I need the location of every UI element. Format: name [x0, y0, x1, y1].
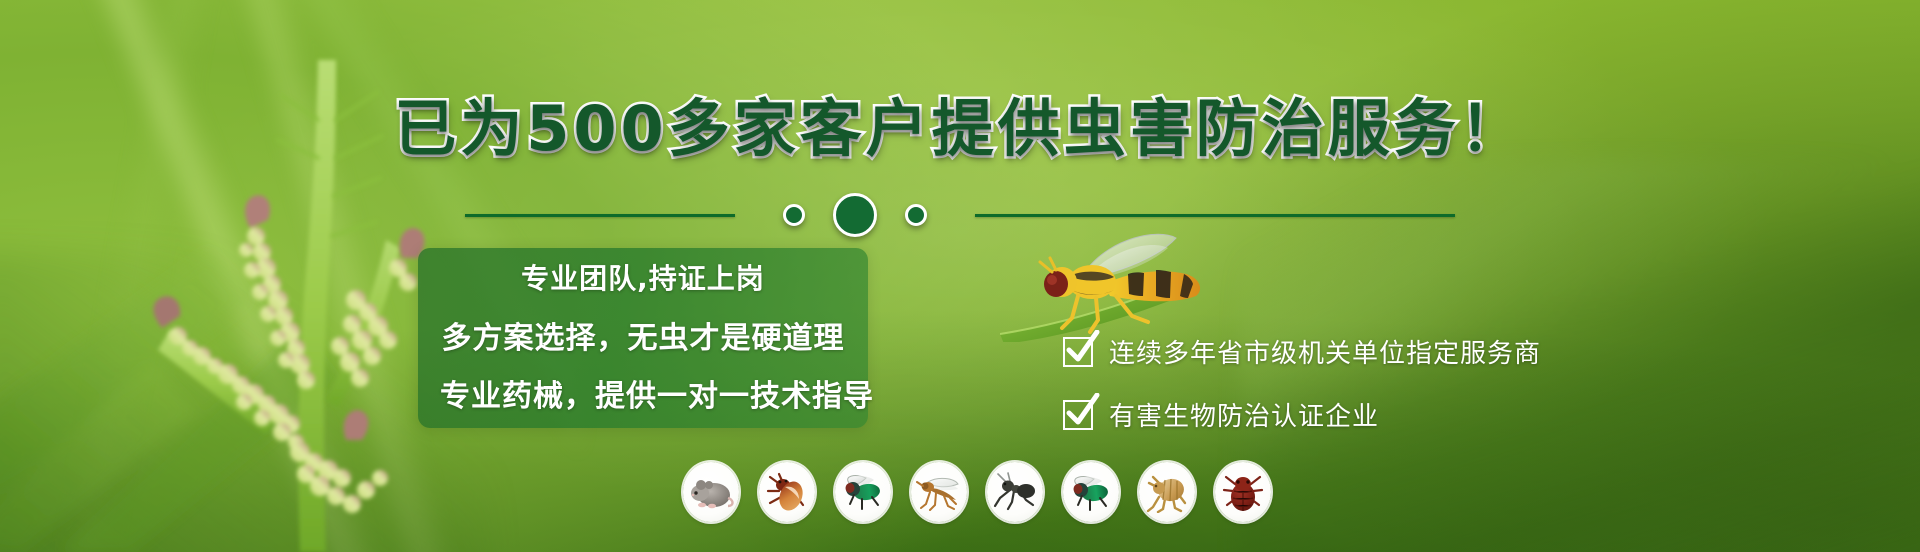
checklist-item: 有害生物防治认证企业	[1063, 396, 1541, 433]
greenfly-icon[interactable]	[835, 462, 891, 522]
bedbug-icon[interactable]	[1215, 462, 1271, 522]
flea-icon[interactable]	[1139, 462, 1195, 522]
cockroach-icon[interactable]	[759, 462, 815, 522]
mosquito-icon[interactable]	[911, 462, 967, 522]
divider	[0, 193, 1920, 237]
feature-line-2: 多方案选择，无虫才是硬道理	[440, 313, 846, 357]
checkbox-checked-icon	[1063, 400, 1093, 430]
mouse-icon[interactable]	[683, 462, 739, 522]
feature-line-1: 专业团队,持证上岗	[440, 257, 846, 297]
divider-line-left	[465, 214, 735, 217]
checkbox-checked-icon	[1063, 337, 1093, 367]
pest-icon-strip	[683, 462, 1271, 522]
checklist-item-label: 有害生物防治认证企业	[1109, 396, 1379, 433]
page-title: 已为500多家客户提供虫害防治服务！	[0, 78, 1920, 168]
blowfly-icon[interactable]	[1063, 462, 1119, 522]
divider-line-right	[975, 214, 1455, 217]
feature-line-3: 专业药械，提供一对一技术指导	[440, 371, 846, 415]
checklist-item-label: 连续多年省市级机关单位指定服务商	[1109, 333, 1541, 370]
feature-highlight-box: 专业团队,持证上岗 多方案选择，无虫才是硬道理 专业药械，提供一对一技术指导	[418, 248, 868, 428]
promo-banner: 已为500多家客户提供虫害防治服务！	[0, 0, 1920, 552]
checklist-item: 连续多年省市级机关单位指定服务商	[1063, 333, 1541, 370]
certification-checklist: 连续多年省市级机关单位指定服务商 有害生物防治认证企业	[1063, 333, 1541, 433]
divider-dot-small-right	[905, 204, 927, 226]
ant-icon[interactable]	[987, 462, 1043, 522]
divider-dot-large	[833, 193, 877, 237]
divider-dot-small-left	[783, 204, 805, 226]
